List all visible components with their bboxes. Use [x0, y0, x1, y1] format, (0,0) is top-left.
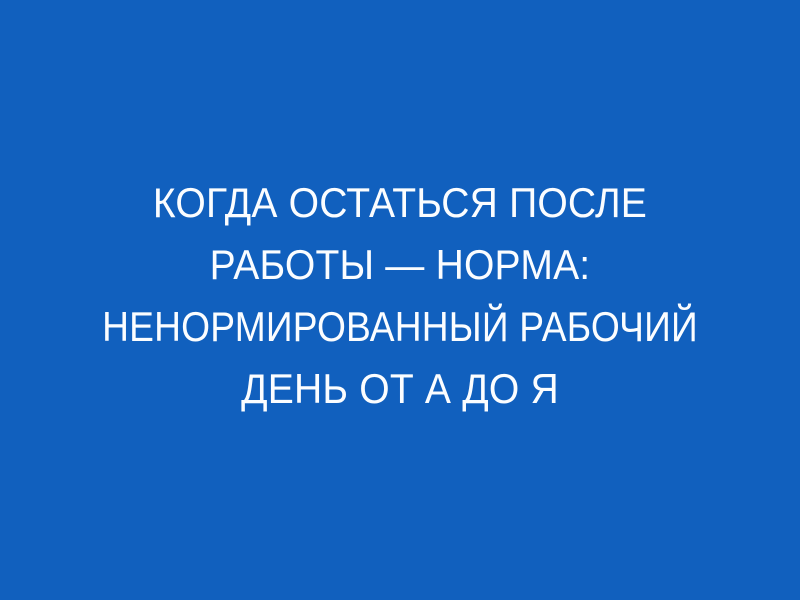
headline-block: КОГДА ОСТАТЬСЯ ПОСЛЕ РАБОТЫ — НОРМА: НЕН…: [0, 172, 800, 420]
headline-line-2: РАБОТЫ — НОРМА:: [41, 234, 759, 296]
headline-line-1: КОГДА ОСТАТЬСЯ ПОСЛЕ: [41, 172, 759, 234]
title-card: КОГДА ОСТАТЬСЯ ПОСЛЕ РАБОТЫ — НОРМА: НЕН…: [0, 0, 800, 600]
headline-line-4: ДЕНЬ ОТ А ДО Я: [41, 358, 759, 420]
headline-line-3: НЕНОРМИРОВАННЫЙ РАБОЧИЙ: [58, 296, 741, 358]
